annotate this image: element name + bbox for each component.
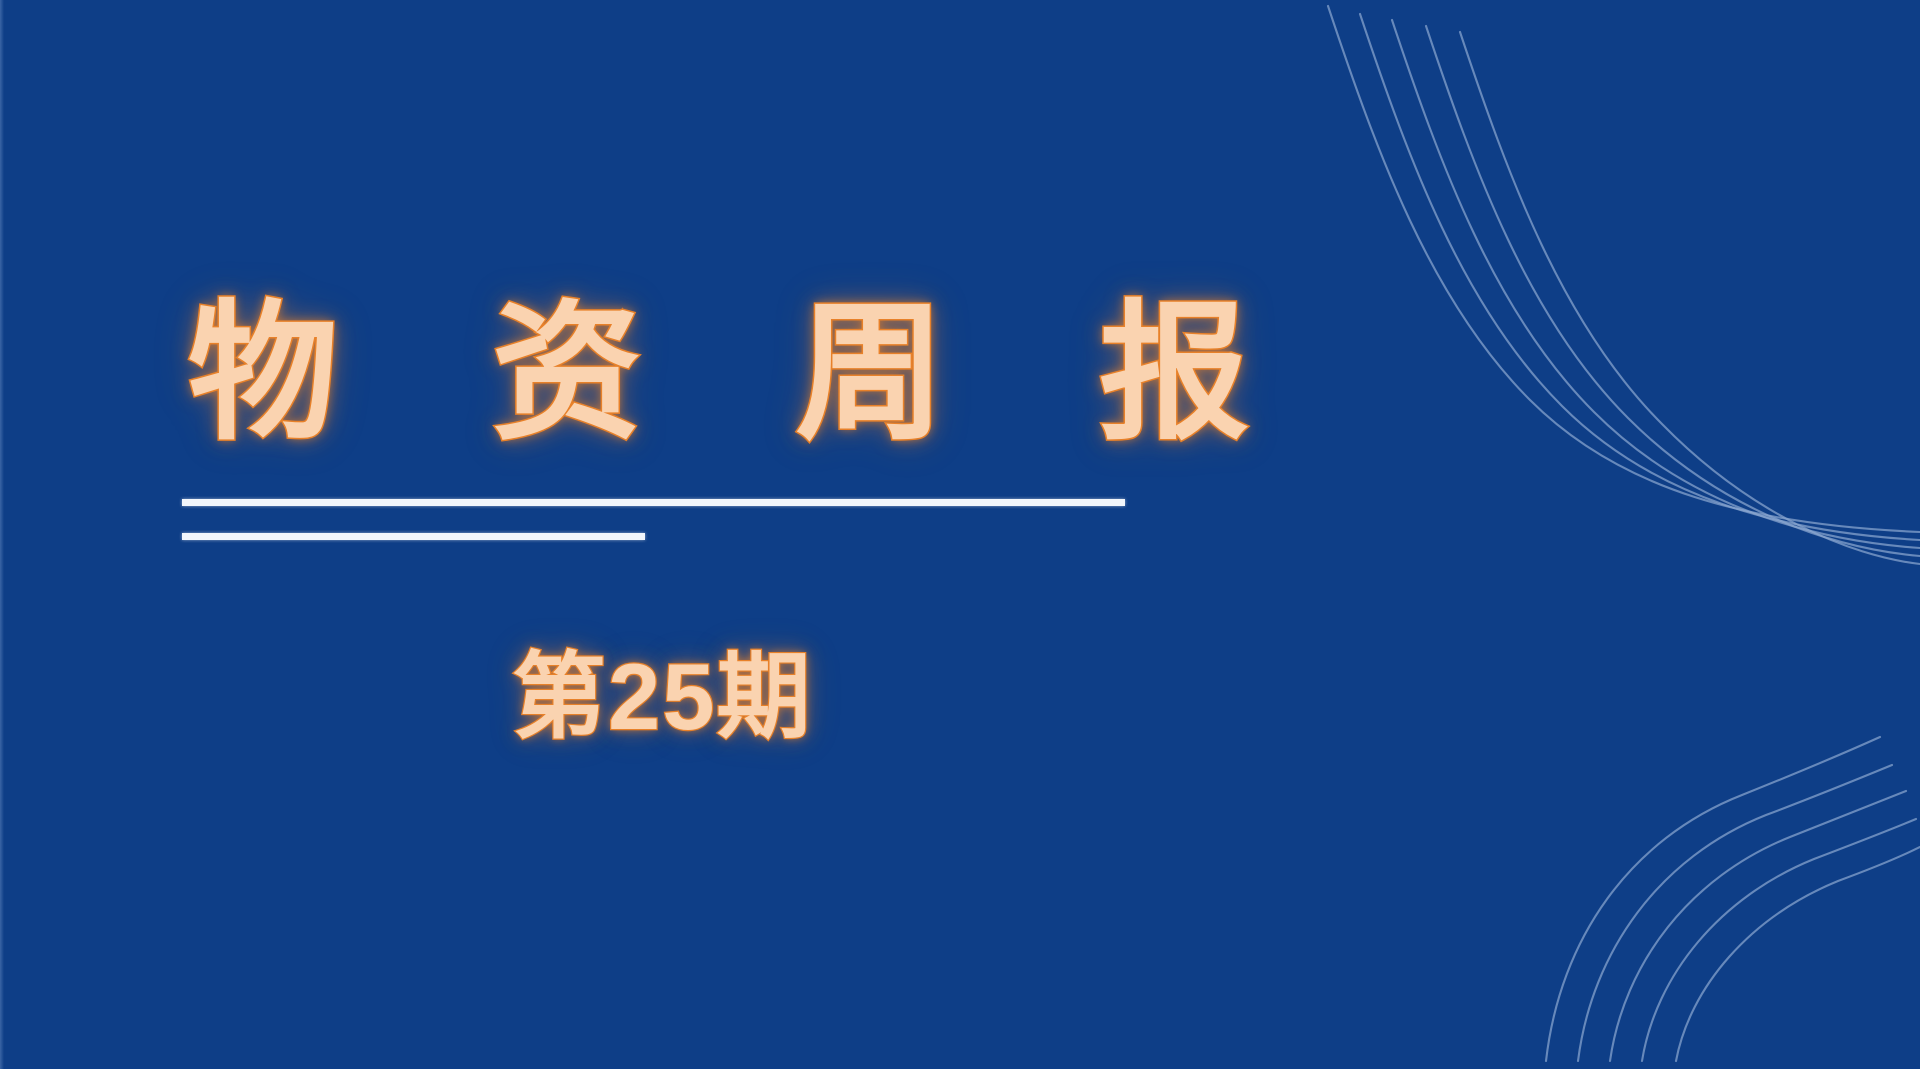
wave-line-4	[1426, 26, 1920, 556]
wave-line-2	[1360, 14, 1920, 540]
arc-line-1	[1546, 737, 1880, 1061]
issue-label: 第25期	[512, 638, 813, 756]
wave-line-1	[1328, 6, 1920, 532]
arc-line-5	[1676, 847, 1920, 1061]
arc-line-2	[1578, 765, 1892, 1061]
slide-left-edge-highlight	[0, 0, 4, 1069]
title-underline-long	[182, 499, 1125, 506]
wave-lines-top-right-icon	[1280, 0, 1920, 600]
arc-line-3	[1610, 791, 1906, 1061]
wave-line-3	[1392, 20, 1920, 548]
title-underline-short	[182, 533, 645, 540]
page-title: 物 资 周 报	[188, 282, 1188, 465]
arc-line-4	[1642, 819, 1916, 1061]
cover-slide: 物 资 周 报 第25期	[0, 0, 1920, 1069]
wave-line-5	[1460, 32, 1920, 564]
arc-lines-bottom-right-icon	[1480, 689, 1920, 1069]
title-block: 物 资 周 报	[188, 282, 1188, 465]
